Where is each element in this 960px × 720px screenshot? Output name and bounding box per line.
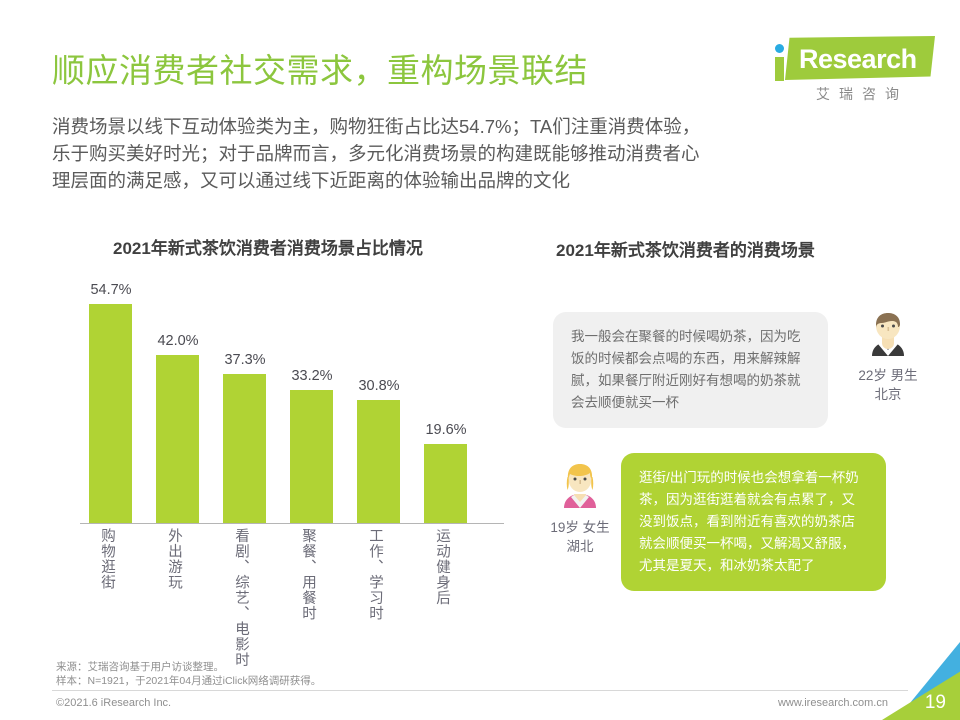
- x-axis-label: 看剧、综艺、电影时: [232, 528, 249, 646]
- lede-line-2: 乐于购买美好时光；对于品牌而言，多元化消费场景的构建既能够推动消费者心: [52, 140, 907, 167]
- bar-value-label: 33.2%: [277, 368, 347, 384]
- logo-i-dot-icon: [775, 44, 784, 53]
- chart-axis-line: [80, 523, 504, 524]
- lede-line-3: 理层面的满足感，又可以通过线下近距离的体验输出品牌的文化: [52, 167, 907, 194]
- bar-value-label: 54.7%: [76, 282, 146, 298]
- respondent-2: 19岁 女生 湖北: [532, 460, 628, 556]
- bar-column: 54.7%: [89, 270, 132, 523]
- x-axis-label: 外出游玩: [165, 528, 182, 646]
- bar-column: 30.8%: [357, 270, 400, 523]
- website-text: www.iresearch.com.cn: [778, 697, 888, 709]
- male-avatar-icon: [862, 308, 914, 360]
- female-avatar-icon: [554, 460, 606, 512]
- bar: [357, 400, 400, 523]
- source-note: 来源：艾瑞咨询基于用户访谈整理。 样本：N=1921，于2021年04月通过iC…: [56, 660, 321, 688]
- respondent-1-meta-line-1: 22岁 男生: [840, 366, 936, 385]
- footer-divider: [52, 690, 908, 691]
- quotes-title: 2021年新式茶饮消费者的消费场景: [556, 236, 815, 261]
- quotes-panel: 我一般会在聚餐的时候喝奶茶，因为吃饭的时候都会点喝的东西，用来解辣解腻，如果餐厅…: [540, 290, 960, 600]
- quote-bubble-1: 我一般会在聚餐的时候喝奶茶，因为吃饭的时候都会点喝的东西，用来解辣解腻，如果餐厅…: [553, 312, 828, 428]
- x-axis-label: 购物逛街: [98, 528, 115, 646]
- iresearch-logo: Research 艾瑞咨询: [763, 36, 938, 110]
- bar-series: 54.7%42.0%37.3%33.2%30.8%19.6%: [80, 270, 504, 523]
- logo-wordmark: Research: [799, 44, 917, 75]
- bar: [290, 390, 333, 523]
- bar-column: 42.0%: [156, 270, 199, 523]
- bar: [424, 444, 467, 523]
- respondent-2-meta-line-1: 19岁 女生: [532, 518, 628, 537]
- x-axis-label: 运动健身后: [433, 528, 450, 646]
- corner-green-shape: [882, 642, 960, 720]
- respondent-1-meta-line-2: 北京: [840, 385, 936, 404]
- slide-root: 顺应消费者社交需求，重构场景联结 消费场景以线下互动体验类为主，购物狂街占比达5…: [0, 0, 960, 720]
- chart-x-axis-labels: 购物逛街外出游玩看剧、综艺、电影时聚餐、用餐时工作、学习时运动健身后: [80, 528, 504, 648]
- logo-i-stem: [775, 57, 784, 81]
- quote-bubble-2: 逛街/出门玩的时候也会想拿着一杯奶茶，因为逛街逛着就会有点累了，又没到饭点，看到…: [621, 453, 886, 591]
- bar-column: 37.3%: [223, 270, 266, 523]
- corner-decoration: [882, 642, 960, 720]
- bar: [223, 374, 266, 523]
- logo-chinese-name: 艾瑞咨询: [787, 84, 937, 104]
- respondent-2-meta-line-2: 湖北: [532, 537, 628, 556]
- bar-column: 19.6%: [424, 270, 467, 523]
- bar-column: 33.2%: [290, 270, 333, 523]
- bar-value-label: 42.0%: [143, 333, 213, 349]
- bar-value-label: 30.8%: [344, 378, 414, 394]
- x-axis-label: 聚餐、用餐时: [299, 528, 316, 646]
- bar: [156, 355, 199, 523]
- copyright-text: ©2021.6 iResearch Inc.: [56, 697, 171, 709]
- x-axis-label: 工作、学习时: [366, 528, 383, 646]
- lede-paragraph: 消费场景以线下互动体验类为主，购物狂街占比达54.7%；TA们注重消费体验， 乐…: [52, 113, 907, 194]
- page-title: 顺应消费者社交需求，重构场景联结: [52, 44, 588, 92]
- bar: [89, 304, 132, 523]
- source-line-1: 来源：艾瑞咨询基于用户访谈整理。: [56, 660, 321, 674]
- bar-value-label: 37.3%: [210, 352, 280, 368]
- respondent-1: 22岁 男生 北京: [840, 308, 936, 404]
- bar-chart: 54.7%42.0%37.3%33.2%30.8%19.6% 购物逛街外出游玩看…: [60, 270, 520, 650]
- lede-line-1: 消费场景以线下互动体验类为主，购物狂街占比达54.7%；TA们注重消费体验，: [52, 113, 907, 140]
- bar-value-label: 19.6%: [411, 422, 481, 438]
- chart-title: 2021年新式茶饮消费者消费场景占比情况: [113, 234, 423, 259]
- source-line-2: 样本：N=1921，于2021年04月通过iClick网络调研获得。: [56, 674, 321, 688]
- page-number: 19: [925, 692, 946, 714]
